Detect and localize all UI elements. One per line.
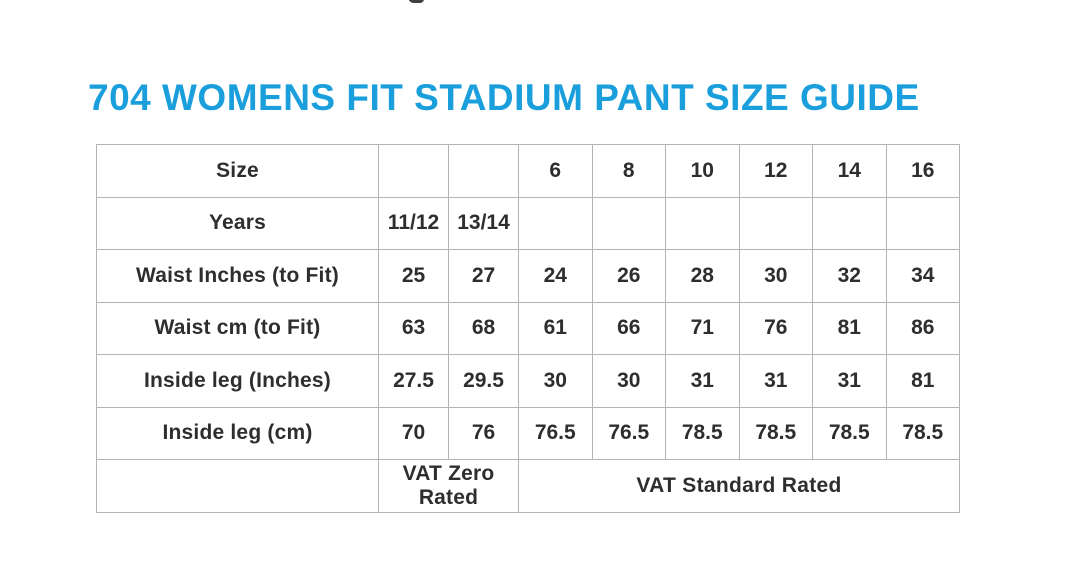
cell-inside-leg-cm-10: 78.5	[666, 407, 740, 460]
cell-inside-leg-cm-grey-1: 70	[379, 407, 449, 460]
cell-years-grey-1: 11/12	[379, 197, 449, 250]
cell-vat-standard-rated: VAT Standard Rated	[519, 460, 960, 513]
cell-waist-cm-6: 61	[519, 302, 593, 355]
cell-years-14	[813, 197, 887, 250]
cell-waist-inches-grey-1: 25	[379, 250, 449, 303]
cell-waist-cm-16: 86	[886, 302, 960, 355]
row-label-waist-cm: Waist cm (to Fit)	[97, 302, 379, 355]
cell-inside-leg-inches-8: 30	[592, 355, 666, 408]
cell-waist-cm-14: 81	[813, 302, 887, 355]
cell-size-10: 10	[666, 145, 740, 198]
size-guide-table: Size 6 8 10 12 14 16 Years 11/12 13/14 W…	[96, 144, 960, 513]
cell-waist-inches-10: 28	[666, 250, 740, 303]
table-row-years: Years 11/12 13/14	[97, 197, 960, 250]
cell-inside-leg-cm-16: 78.5	[886, 407, 960, 460]
cell-inside-leg-inches-12: 31	[739, 355, 813, 408]
cell-waist-inches-grey-2: 27	[449, 250, 519, 303]
cell-waist-inches-6: 24	[519, 250, 593, 303]
row-label-inside-leg-cm: Inside leg (cm)	[97, 407, 379, 460]
cell-inside-leg-cm-grey-2: 76	[449, 407, 519, 460]
cell-waist-cm-grey-1: 63	[379, 302, 449, 355]
cell-inside-leg-inches-grey-1: 27.5	[379, 355, 449, 408]
cell-size-8: 8	[592, 145, 666, 198]
cell-size-12: 12	[739, 145, 813, 198]
table-row-waist-cm: Waist cm (to Fit) 63 68 61 66 71 76 81 8…	[97, 302, 960, 355]
cell-years-10	[666, 197, 740, 250]
table-row-size: Size 6 8 10 12 14 16	[97, 145, 960, 198]
cell-waist-cm-grey-2: 68	[449, 302, 519, 355]
cell-vat-zero-rated: VAT Zero Rated	[379, 460, 519, 513]
cell-waist-inches-16: 34	[886, 250, 960, 303]
cell-waist-inches-12: 30	[739, 250, 813, 303]
cell-waist-cm-10: 71	[666, 302, 740, 355]
cell-inside-leg-inches-grey-2: 29.5	[449, 355, 519, 408]
cell-years-12	[739, 197, 813, 250]
table-row-waist-inches: Waist Inches (to Fit) 25 27 24 26 28 30 …	[97, 250, 960, 303]
row-label-waist-inches: Waist Inches (to Fit)	[97, 250, 379, 303]
cell-years-16	[886, 197, 960, 250]
cell-inside-leg-cm-14: 78.5	[813, 407, 887, 460]
row-label-inside-leg-inches: Inside leg (Inches)	[97, 355, 379, 408]
cell-waist-cm-8: 66	[592, 302, 666, 355]
row-label-vat-empty	[97, 460, 379, 513]
cell-years-8	[592, 197, 666, 250]
cell-inside-leg-cm-8: 76.5	[592, 407, 666, 460]
cell-inside-leg-inches-14: 31	[813, 355, 887, 408]
cell-waist-inches-8: 26	[592, 250, 666, 303]
cell-inside-leg-inches-6: 30	[519, 355, 593, 408]
cell-size-6: 6	[519, 145, 593, 198]
cell-size-grey-1	[379, 145, 449, 198]
cell-years-6	[519, 197, 593, 250]
row-label-years: Years	[97, 197, 379, 250]
cell-size-grey-2	[449, 145, 519, 198]
cell-waist-inches-14: 32	[813, 250, 887, 303]
cell-waist-cm-12: 76	[739, 302, 813, 355]
table-row-inside-leg-inches: Inside leg (Inches) 27.5 29.5 30 30 31 3…	[97, 355, 960, 408]
cell-inside-leg-inches-10: 31	[666, 355, 740, 408]
table-row-vat: VAT Zero Rated VAT Standard Rated	[97, 460, 960, 513]
table-row-inside-leg-cm: Inside leg (cm) 70 76 76.5 76.5 78.5 78.…	[97, 407, 960, 460]
page-title: 704 WOMENS FIT STADIUM PANT SIZE GUIDE	[88, 76, 920, 120]
cell-inside-leg-cm-6: 76.5	[519, 407, 593, 460]
cell-size-16: 16	[886, 145, 960, 198]
cell-inside-leg-inches-16: 81	[886, 355, 960, 408]
row-label-size: Size	[97, 145, 379, 198]
cell-years-grey-2: 13/14	[449, 197, 519, 250]
cell-inside-leg-cm-12: 78.5	[739, 407, 813, 460]
cell-size-14: 14	[813, 145, 887, 198]
clipped-text-fragment	[408, 0, 424, 3]
